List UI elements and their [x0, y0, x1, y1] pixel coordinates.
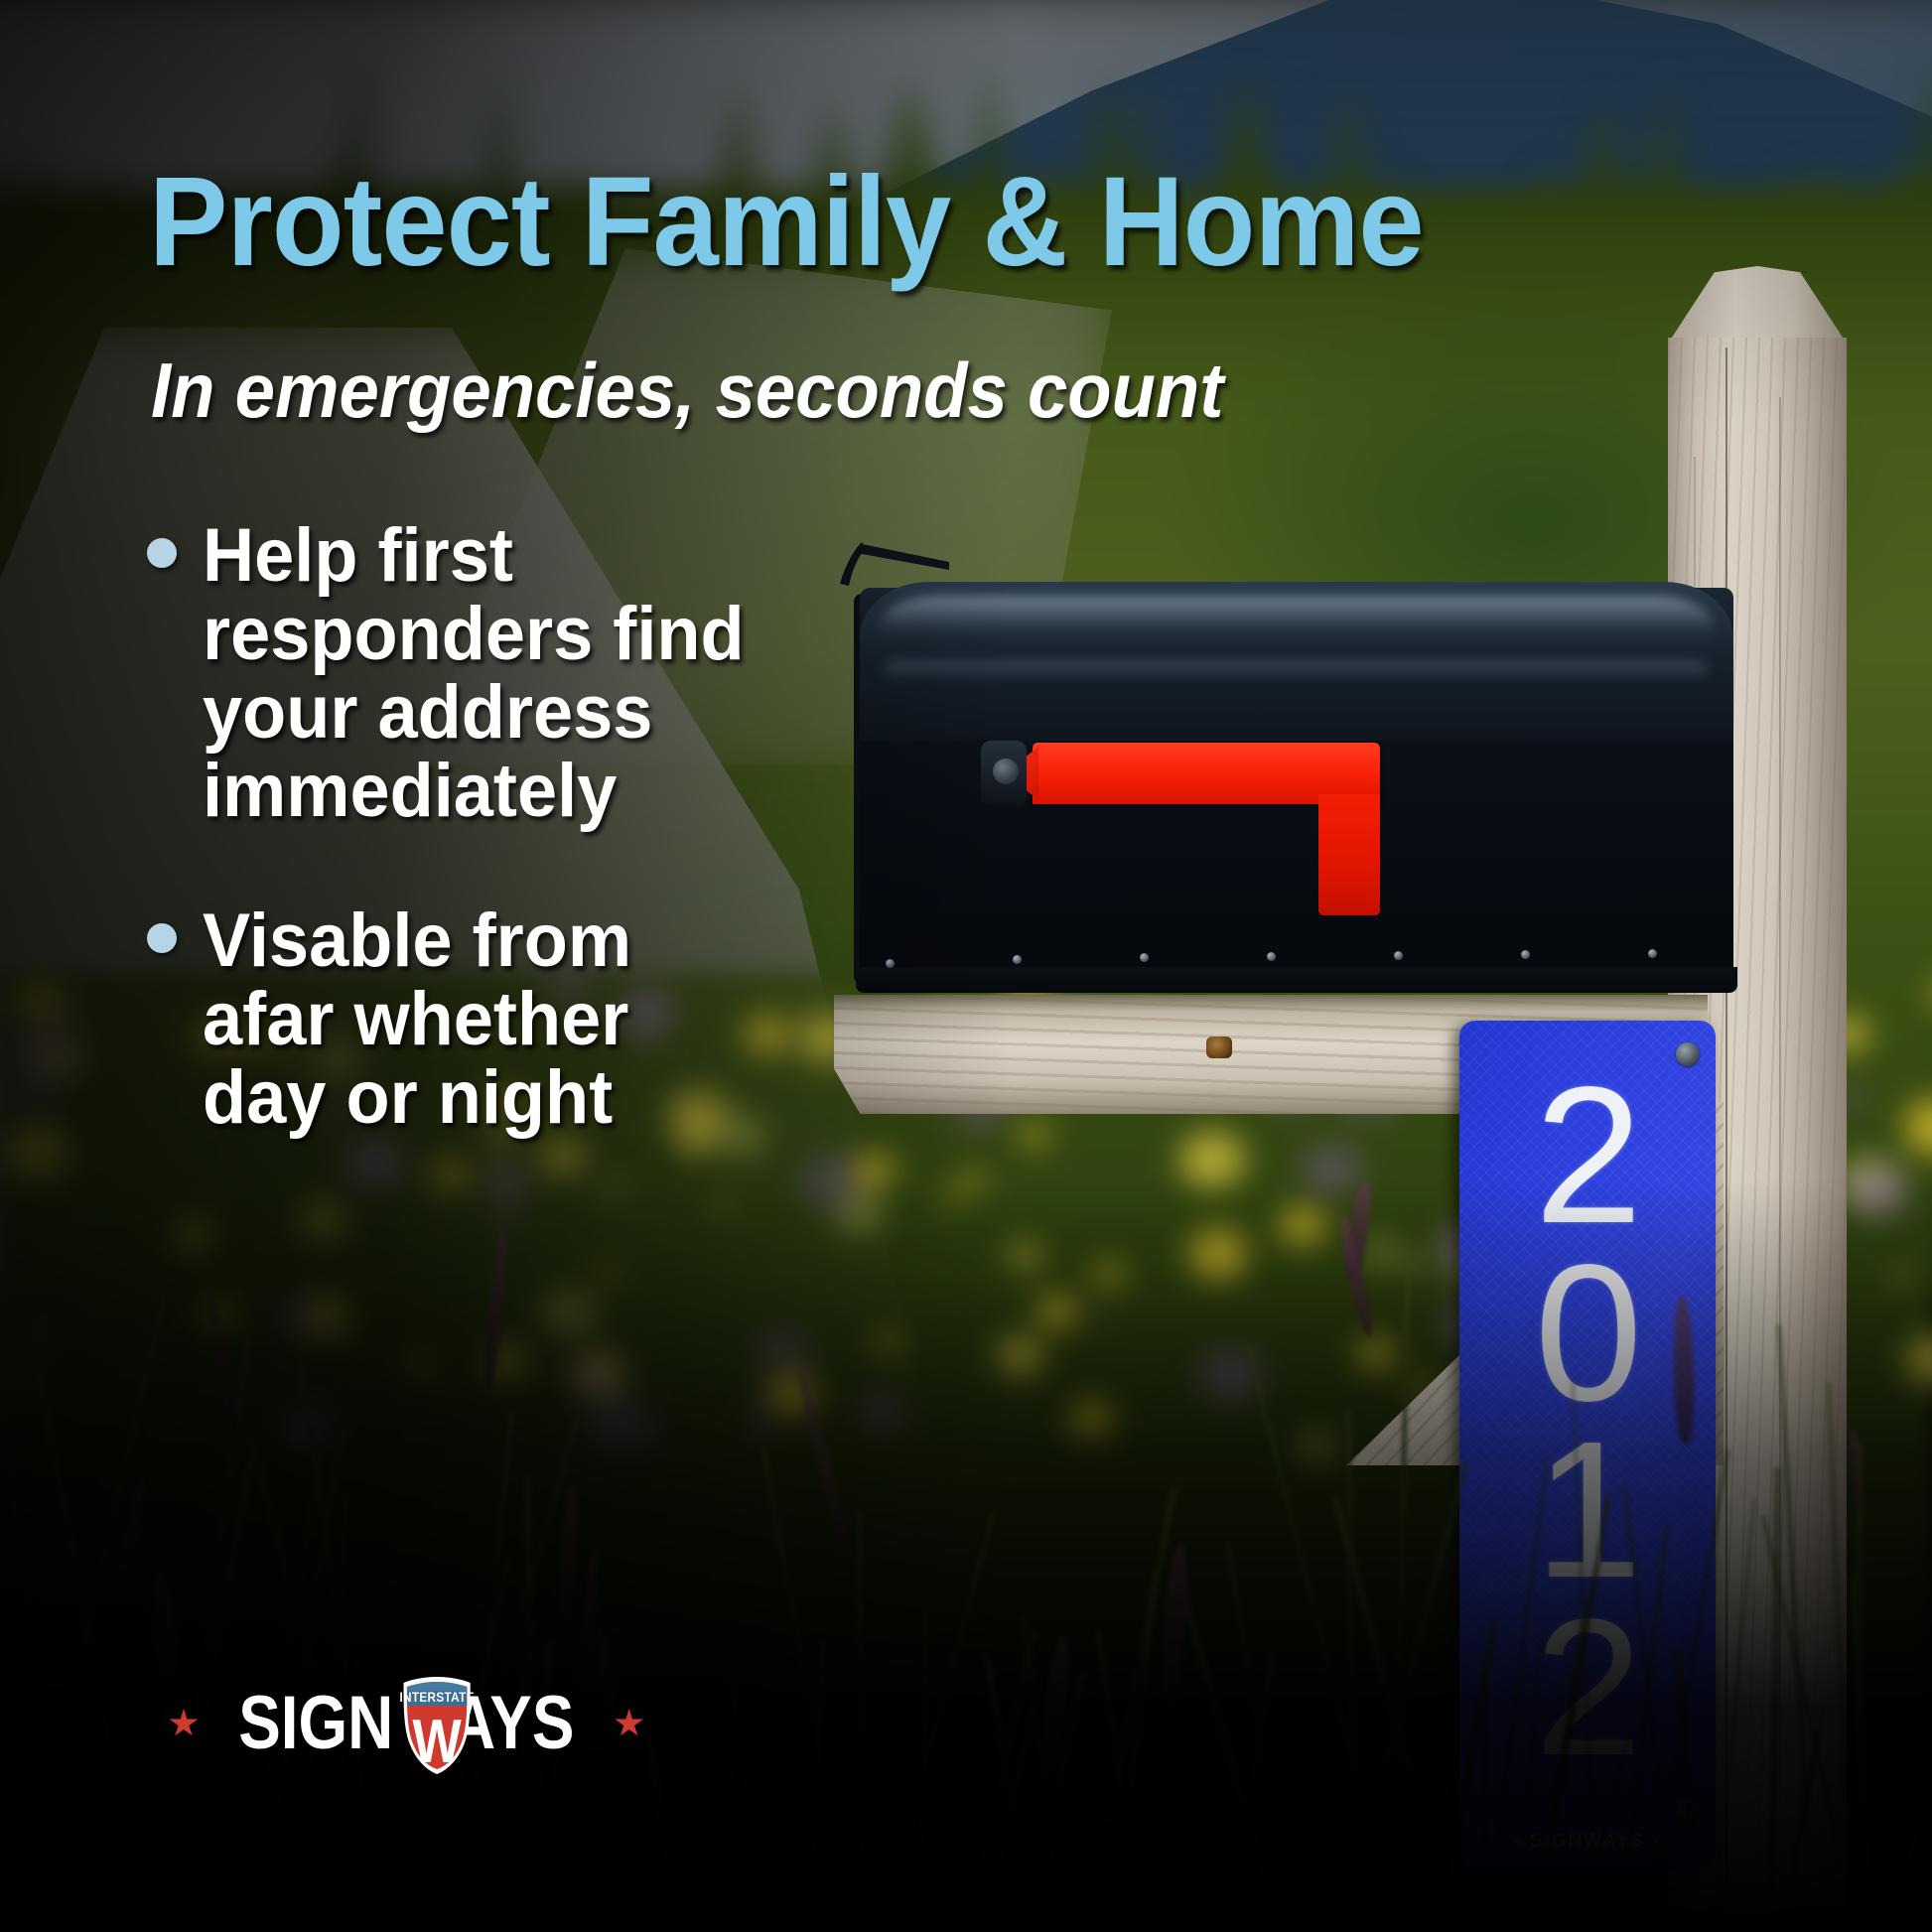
- page-subtitle: In emergencies, seconds count: [151, 345, 1223, 436]
- list-item-label: Visable from afar whether day or night: [203, 901, 762, 1137]
- list-item: Visable from afar whether day or night: [147, 901, 792, 1137]
- svg-text:W: W: [413, 1708, 462, 1776]
- benefit-list: Help first responders find your address …: [147, 516, 792, 1208]
- star-icon: [615, 1709, 644, 1738]
- bullet-dot-icon: [147, 538, 177, 568]
- poster-canvas: 2012 - SIGNWAYS - Protect Family & Home …: [0, 0, 1932, 1932]
- bullet-dot-icon: [147, 923, 177, 953]
- list-item: Help first responders find your address …: [147, 516, 792, 830]
- page-title: Protect Family & Home: [149, 149, 1424, 295]
- brand-logo: SIGNWAYS INTERSTATE W: [169, 1678, 644, 1769]
- list-item-label: Help first responders find your address …: [203, 516, 762, 830]
- brand-word-left: SIGN: [238, 1681, 393, 1765]
- brand-wordmark: SIGNWAYS INTERSTATE W: [238, 1686, 574, 1761]
- interstate-shield-icon: INTERSTATE W: [398, 1674, 475, 1777]
- svg-text:INTERSTATE: INTERSTATE: [399, 1689, 474, 1705]
- poster-content: Protect Family & Home In emergencies, se…: [0, 0, 1932, 1932]
- star-icon: [169, 1709, 199, 1738]
